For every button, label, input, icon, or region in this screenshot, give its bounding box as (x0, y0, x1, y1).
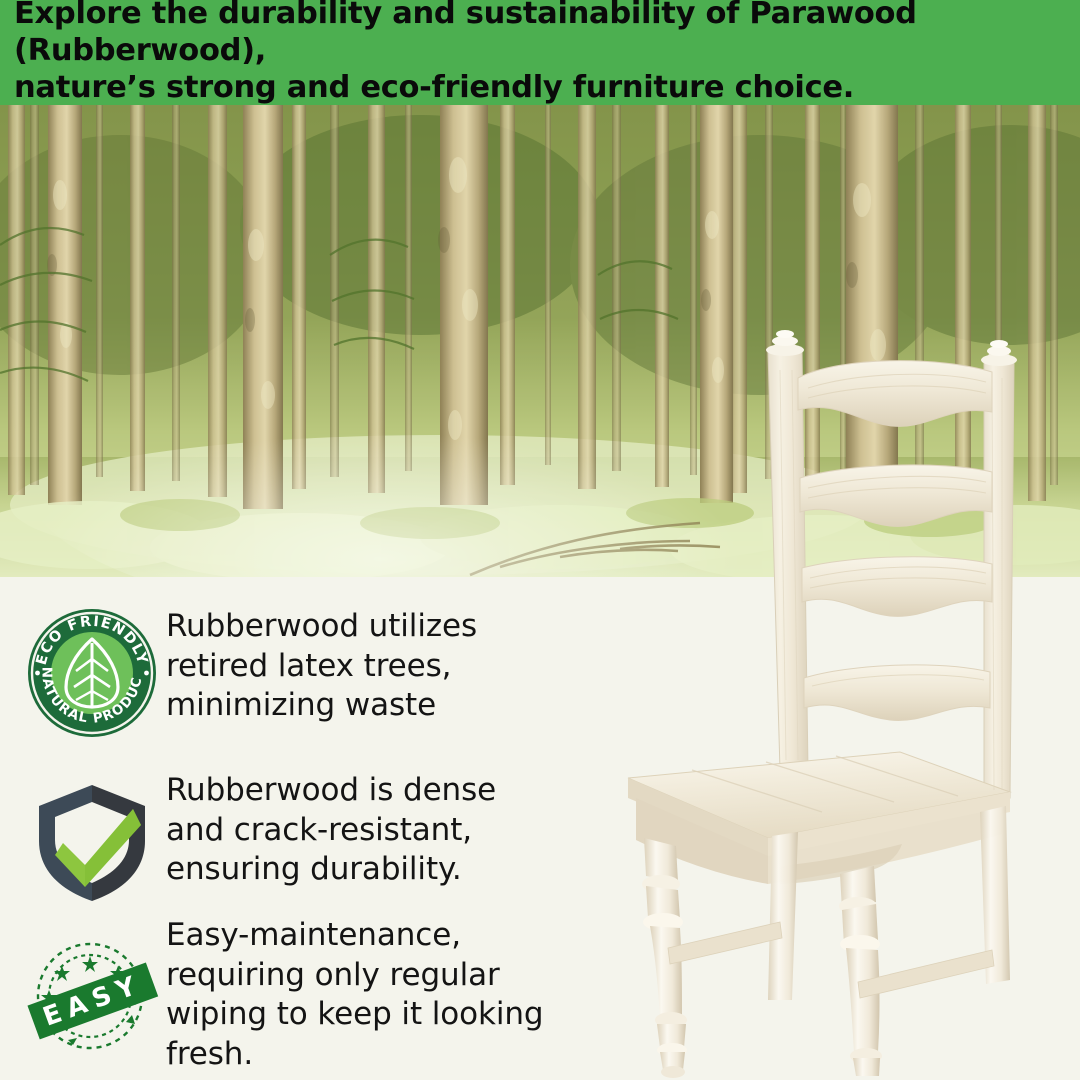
shield-check-icon (18, 769, 166, 899)
feature-list: ECO FRIENDLY NATURAL PRODUCT (0, 577, 560, 1080)
eco-badge-svg: ECO FRIENDLY NATURAL PRODUCT (26, 607, 158, 739)
forest-illustration (0, 105, 1080, 577)
infographic-root: Explore the durability and sustainabilit… (0, 0, 1080, 1080)
feature-text-easy-maintenance: Easy-maintenance, requiring only regular… (166, 914, 558, 1075)
feature-text-eco-friendly: Rubberwood utilizes retired latex trees,… (166, 605, 558, 726)
easy-stamp-label: EASY (39, 969, 146, 1033)
eco-friendly-badge-icon: ECO FRIENDLY NATURAL PRODUCT (18, 605, 166, 735)
easy-stamp-icon: EASY (18, 914, 166, 1044)
feature-item-eco-friendly: ECO FRIENDLY NATURAL PRODUCT (18, 605, 558, 735)
forest-plantation-image (0, 105, 1080, 577)
header-banner: Explore the durability and sustainabilit… (0, 0, 1080, 105)
feature-item-easy-maintenance: EASY Easy-maintenance, requiring only re… (18, 914, 558, 1075)
feature-text-durability: Rubberwood is dense and crack-resistant,… (166, 769, 558, 890)
shield-check-svg (29, 779, 155, 905)
easy-stamp-svg: EASY (22, 936, 162, 1054)
header-title: Explore the durability and sustainabilit… (0, 0, 1080, 110)
feature-item-durability: Rubberwood is dense and crack-resistant,… (18, 769, 558, 899)
